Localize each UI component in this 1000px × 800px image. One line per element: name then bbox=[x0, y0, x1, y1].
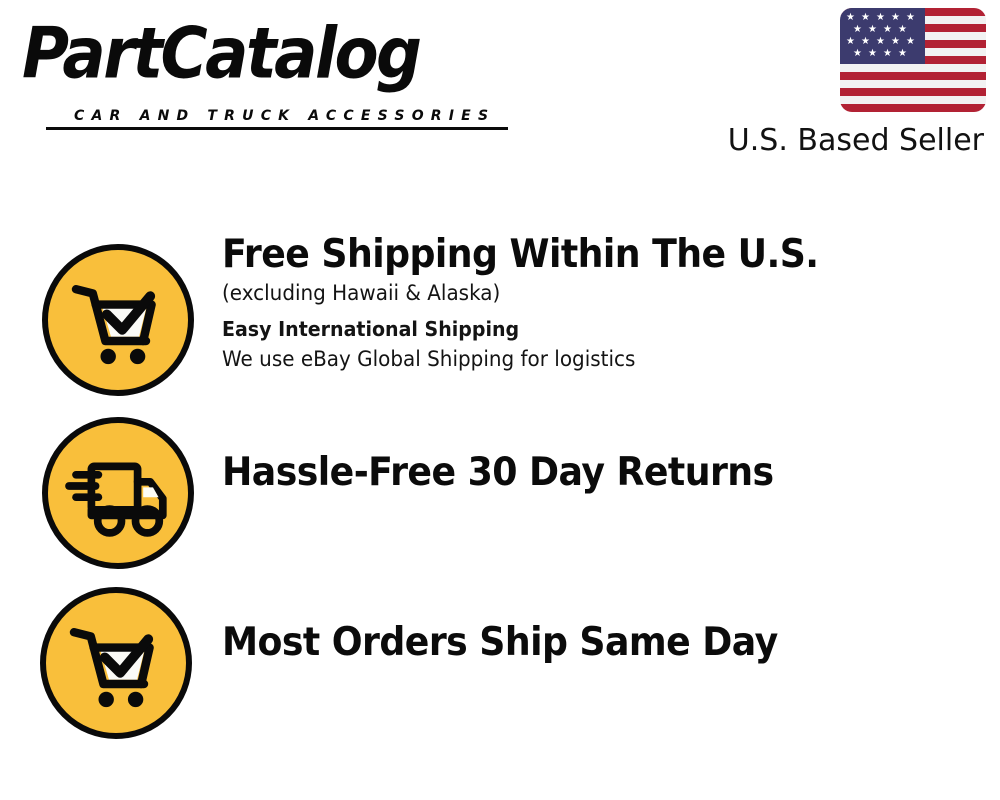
brand-underline-rule bbox=[46, 127, 508, 130]
shopping-cart-check-icon bbox=[42, 244, 194, 396]
feature-title: Most Orders Ship Same Day bbox=[222, 620, 873, 666]
shipping-info-banner: PartCatalog CAR AND TRUCK ACCESSORIES ★ … bbox=[0, 0, 1000, 800]
brand-tagline: CAR AND TRUCK ACCESSORIES bbox=[74, 108, 495, 124]
feature-row: Hassle-Free 30 Day Returns bbox=[0, 400, 1000, 571]
shopping-cart-check-glyph bbox=[48, 250, 188, 390]
feature-subline: Easy International Shipping bbox=[222, 314, 887, 344]
feature-title: Free Shipping Within The U.S. bbox=[222, 232, 873, 278]
feature-title: Hassle-Free 30 Day Returns bbox=[222, 450, 873, 496]
us-based-seller-badge: ★ ★ ★ ★ ★ ★ ★ ★ ★ ★ ★ ★ ★ ★ ★ ★ ★ ★ U.S.… bbox=[711, 8, 986, 158]
feature-row: Most Orders Ship Same Day bbox=[0, 571, 1000, 743]
feature-text-block: Hassle-Free 30 Day Returns bbox=[222, 450, 922, 496]
feature-text-block: Free Shipping Within The U.S. (excluding… bbox=[222, 232, 922, 374]
brand-logo: PartCatalog CAR AND TRUCK ACCESSORIES bbox=[22, 18, 502, 118]
delivery-truck-icon bbox=[42, 417, 194, 569]
delivery-truck-glyph bbox=[48, 423, 188, 563]
feature-list: Free Shipping Within The U.S. (excluding… bbox=[0, 228, 1000, 743]
seller-badge-label: U.S. Based Seller bbox=[711, 123, 984, 158]
shopping-cart-check-glyph bbox=[46, 593, 186, 733]
shopping-cart-check-icon bbox=[40, 587, 192, 739]
brand-wordmark: PartCatalog bbox=[22, 18, 419, 89]
flag-canton: ★ ★ ★ ★ ★ ★ ★ ★ ★ ★ ★ ★ ★ ★ ★ ★ ★ ★ bbox=[840, 8, 925, 64]
feature-text-block: Most Orders Ship Same Day bbox=[222, 620, 922, 666]
feature-row: Free Shipping Within The U.S. (excluding… bbox=[0, 228, 1000, 400]
us-flag-icon: ★ ★ ★ ★ ★ ★ ★ ★ ★ ★ ★ ★ ★ ★ ★ ★ ★ ★ bbox=[840, 8, 986, 112]
feature-subline: We use eBay Global Shipping for logistic… bbox=[222, 344, 887, 374]
feature-subline: (excluding Hawaii & Alaska) bbox=[222, 278, 887, 308]
